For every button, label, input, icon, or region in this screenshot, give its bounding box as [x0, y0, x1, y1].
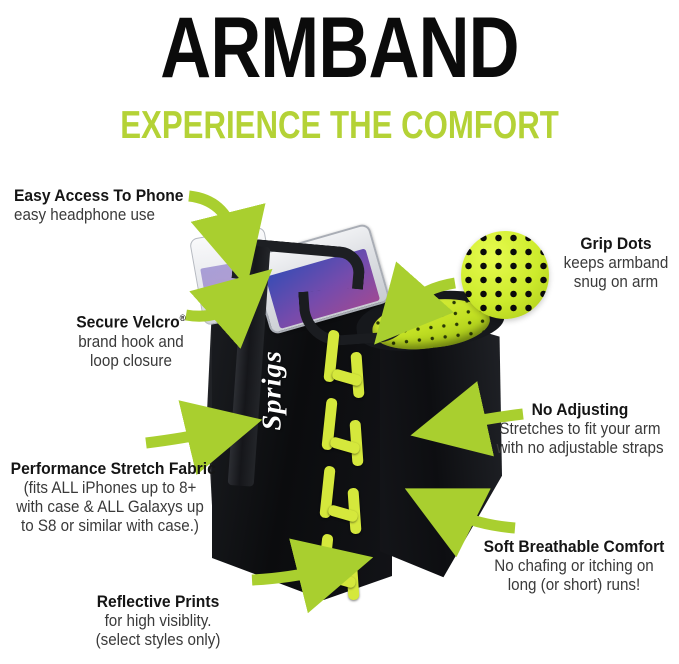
callout-line: keeps armband: [559, 254, 673, 273]
grip-dots-detail-circle: [461, 231, 549, 319]
callout-heading: Easy Access To Phone: [14, 186, 184, 206]
callout-grip-dots: Grip Dots keeps armband snug on arm: [554, 234, 678, 292]
brand-logo: Sprigs: [257, 305, 288, 431]
callout-performance-stretch-fabric: Performance Stretch Fabric (fits ALL iPh…: [2, 459, 218, 536]
callout-soft-breathable-comfort: Soft Breathable Comfort No chafing or it…: [470, 537, 678, 595]
product-infographic: ARMBAND EXPERIENCE THE COMFORT Sprigs: [0, 0, 679, 664]
registered-mark-icon: ®: [180, 313, 186, 323]
callout-heading: Performance Stretch Fabric: [11, 459, 210, 479]
callout-line: snug on arm: [559, 273, 673, 292]
callout-line: to S8 or similar with case.): [11, 517, 210, 536]
callout-line: (fits ALL iPhones up to 8+: [11, 479, 210, 498]
callout-heading: Grip Dots: [559, 234, 673, 254]
callout-line: with case & ALL Galaxys up: [11, 498, 210, 517]
callout-heading: Soft Breathable Comfort: [478, 537, 669, 557]
callout-line: No chafing or itching on: [478, 557, 669, 576]
callout-line: (select styles only): [88, 631, 228, 650]
callout-heading: No Adjusting: [490, 400, 670, 420]
callout-heading: Secure Velcro®: [63, 308, 199, 333]
callout-line: Stretches to fit your arm: [490, 420, 670, 439]
callout-secure-velcro: Secure Velcro® brand hook and loop closu…: [57, 308, 205, 371]
callout-line: for high visiblity.: [88, 612, 228, 631]
callout-heading: Reflective Prints: [88, 592, 228, 612]
callout-line: easy headphone use: [14, 206, 184, 225]
callout-line: long (or short) runs!: [478, 576, 669, 595]
callout-reflective-prints: Reflective Prints for high visiblity. (s…: [82, 592, 234, 650]
callout-no-adjusting: No Adjusting Stretches to fit your arm w…: [482, 400, 678, 458]
callout-easy-access: Easy Access To Phone easy headphone use: [14, 186, 198, 225]
callout-line: brand hook and: [63, 333, 199, 352]
callout-line: loop closure: [63, 352, 199, 371]
callout-line: with no adjustable straps: [490, 439, 670, 458]
